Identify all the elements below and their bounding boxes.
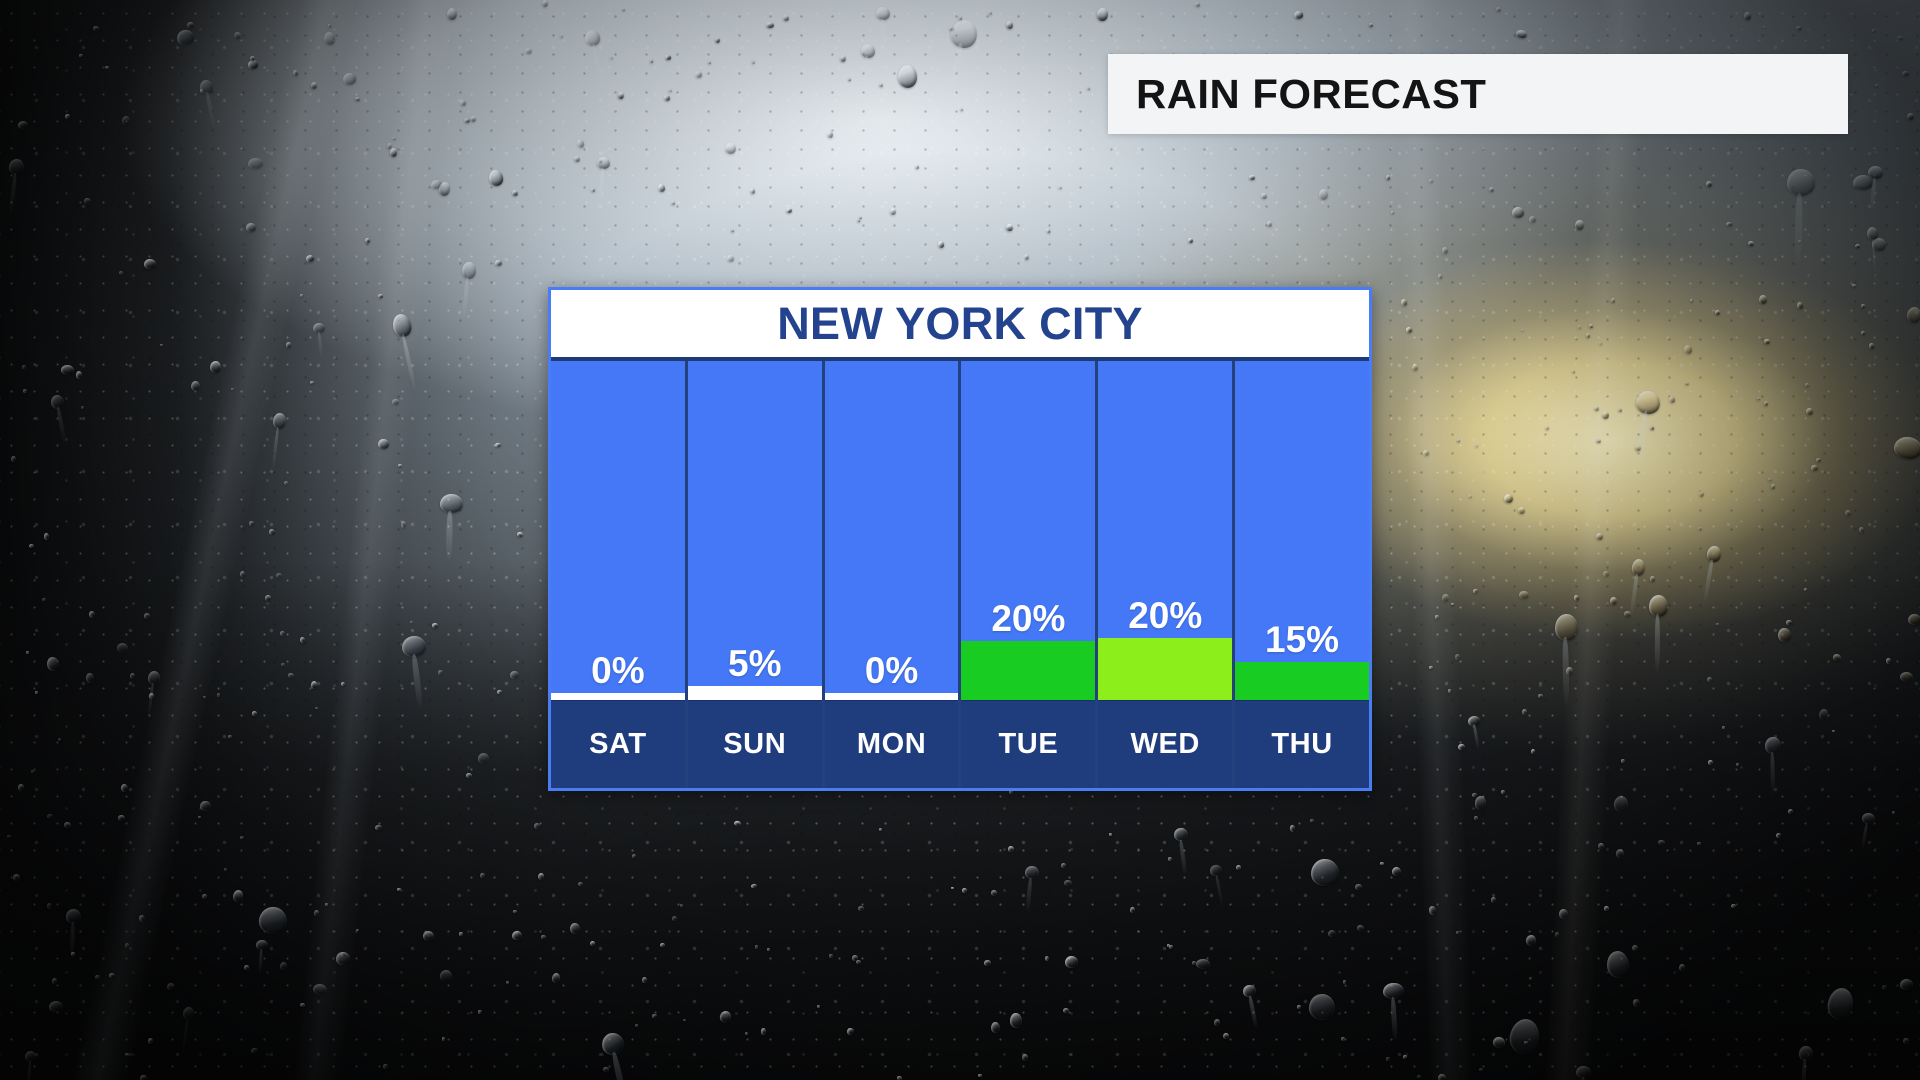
city-title: NEW YORK CITY (777, 298, 1143, 350)
forecast-column-sat: 0%SAT (551, 361, 685, 788)
rain-chance-bar (1235, 662, 1369, 700)
weather-graphic-stage: RAIN FORECAST NEW YORK CITY 0%SAT5%SUN0%… (0, 0, 1920, 1080)
day-cell: THU (1235, 700, 1369, 788)
rain-chance-bar (825, 693, 959, 700)
day-cell: SAT (551, 700, 685, 788)
day-label: THU (1271, 728, 1332, 761)
day-label: SAT (589, 728, 647, 761)
rain-chance-bar (961, 641, 1095, 700)
day-cell: TUE (961, 700, 1095, 788)
rain-chance-label: 20% (961, 600, 1095, 637)
day-cell: MON (825, 700, 959, 788)
rain-chance-label: 20% (1098, 597, 1232, 634)
rain-forecast-title-text: RAIN FORECAST (1136, 71, 1486, 118)
rain-chance-bar (551, 693, 685, 700)
forecast-panel: NEW YORK CITY 0%SAT5%SUN0%MON20%TUE20%WE… (548, 287, 1372, 791)
forecast-column-tue: 20%TUE (961, 361, 1095, 788)
forecast-column-sun: 5%SUN (688, 361, 822, 788)
rain-chance-bar (688, 686, 822, 700)
forecast-column-thu: 15%THU (1235, 361, 1369, 788)
day-cell: SUN (688, 700, 822, 788)
day-label: SUN (723, 728, 786, 761)
rain-chance-label: 5% (688, 645, 822, 682)
rain-chance-label: 0% (825, 652, 959, 689)
day-label: TUE (998, 728, 1058, 761)
rain-chance-label: 15% (1235, 621, 1369, 658)
day-label: MON (857, 728, 926, 761)
day-cell: WED (1098, 700, 1232, 788)
day-label: WED (1130, 728, 1199, 761)
forecast-column-wed: 20%WED (1098, 361, 1232, 788)
rain-chance-label: 0% (551, 652, 685, 689)
panel-header: NEW YORK CITY (551, 290, 1369, 357)
rain-chance-bar-chart: 0%SAT5%SUN0%MON20%TUE20%WED15%THU (551, 357, 1369, 788)
rain-chance-bar (1098, 638, 1232, 700)
forecast-column-mon: 0%MON (825, 361, 959, 788)
rain-forecast-title-banner: RAIN FORECAST (1108, 54, 1848, 134)
